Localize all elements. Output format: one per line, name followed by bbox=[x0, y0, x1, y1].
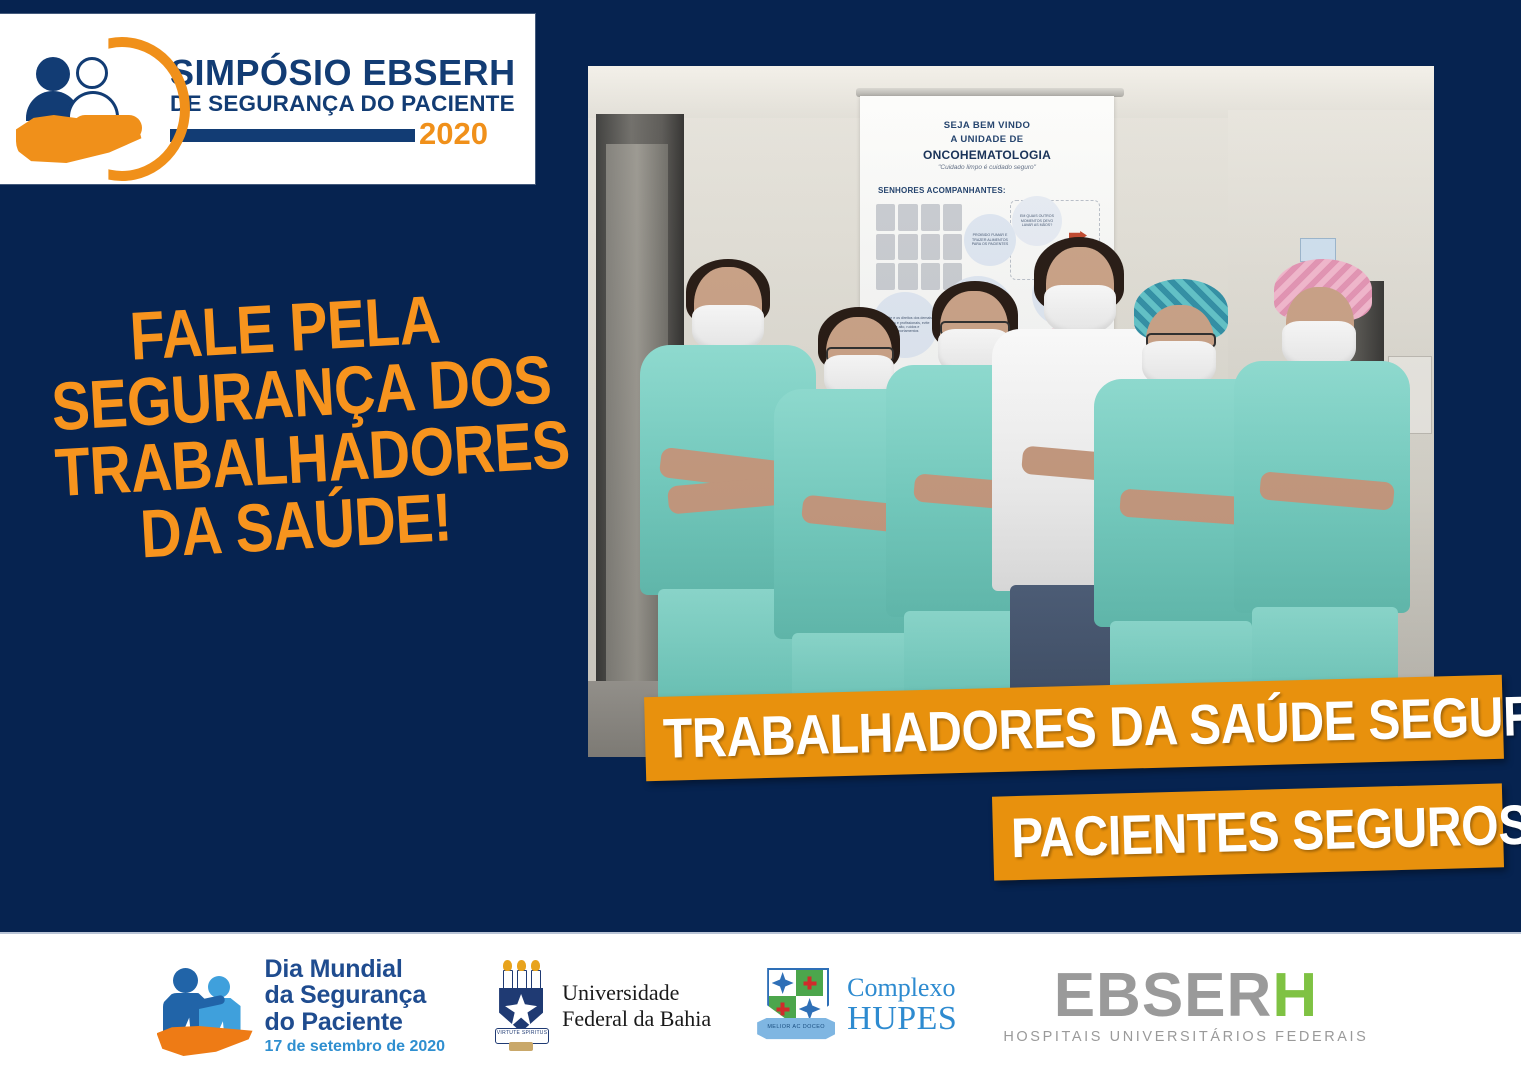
wpsd-icon bbox=[153, 960, 253, 1052]
simposio-logo-text: SIMPÓSIO EBSERH DE SEGURANÇA DO PACIENTE… bbox=[170, 51, 516, 148]
ebserh-word-green: H bbox=[1272, 961, 1318, 1030]
simposio-logo-card: SIMPÓSIO EBSERH DE SEGURANÇA DO PACIENTE… bbox=[0, 14, 535, 184]
wpsd-line-2: da Segurança bbox=[265, 982, 446, 1009]
main-headline: FALE PELA SEGURANÇA DOS TRABALHADORES DA… bbox=[1, 280, 580, 575]
hupes-icon: MELIOR AC DOCEO bbox=[757, 960, 835, 1052]
simposio-title: SIMPÓSIO EBSERH bbox=[170, 55, 516, 91]
simposio-year: 2020 bbox=[419, 121, 488, 148]
person-head-filled-icon bbox=[36, 57, 70, 91]
ufba-icon: VIRTUTE SPIRITUS bbox=[491, 958, 551, 1054]
divider-bar bbox=[170, 129, 415, 142]
wpsd-hand-icon bbox=[157, 1026, 253, 1056]
wpsd-text: Dia Mundial da Segurança do Paciente 17 … bbox=[265, 956, 446, 1057]
simposio-subtitle: DE SEGURANÇA DO PACIENTE bbox=[170, 91, 516, 117]
ebserh-wordmark: EBSERH bbox=[1054, 967, 1318, 1025]
footer-divider bbox=[0, 932, 1521, 934]
footer-logos: Dia Mundial da Segurança do Paciente 17 … bbox=[0, 932, 1521, 1080]
wpsd-head-dark-icon bbox=[173, 968, 198, 993]
ufba-logo: VIRTUTE SPIRITUS Universidade Federal da… bbox=[491, 958, 711, 1054]
ufba-text: Universidade Federal da Bahia bbox=[562, 980, 711, 1032]
poster-tagline: "Cuidado limpo é cuidado seguro" bbox=[860, 164, 1114, 171]
banner-line-1-text: TRABALHADORES DA SAÚDE SEGUROS, bbox=[662, 686, 1521, 767]
ufba-line-1: Universidade bbox=[562, 980, 711, 1006]
hupes-ribbon: MELIOR AC DOCEO bbox=[757, 1018, 835, 1040]
wpsd-line-3: do Paciente bbox=[265, 1009, 446, 1036]
ebserh-word-grey: EBSER bbox=[1054, 961, 1273, 1030]
wpsd-line-1: Dia Mundial bbox=[265, 956, 446, 983]
hupes-line-2: HUPES bbox=[847, 1002, 957, 1037]
hand-fingers-icon bbox=[72, 115, 142, 141]
banner-line-2: PACIENTES SEGUROS bbox=[992, 783, 1504, 880]
ebserh-logo: EBSERH HOSPITAIS UNIVERSITÁRIOS FEDERAIS bbox=[1003, 967, 1368, 1044]
ufba-base-icon bbox=[509, 1042, 533, 1051]
wpsd-date: 17 de setembro de 2020 bbox=[265, 1038, 446, 1056]
hupes-logo: MELIOR AC DOCEO Complexo HUPES bbox=[757, 960, 957, 1052]
poster-canvas: SIMPÓSIO EBSERH DE SEGURANÇA DO PACIENTE… bbox=[0, 0, 1521, 1080]
hupes-text: Complexo HUPES bbox=[847, 975, 957, 1036]
person-head-outline-icon bbox=[76, 57, 108, 89]
banner-line-2-text: PACIENTES SEGUROS bbox=[1010, 797, 1521, 867]
poster-line-3: ONCOHEMATOLOGIA bbox=[860, 148, 1114, 162]
simposio-logo-icon bbox=[14, 29, 164, 169]
poster-line-1: SEJA BEM VINDO bbox=[860, 120, 1114, 131]
wpsd-logo: Dia Mundial da Segurança do Paciente 17 … bbox=[153, 956, 446, 1057]
team-photo: SEJA BEM VINDO A UNIDADE DE ONCOHEMATOLO… bbox=[588, 66, 1434, 757]
poster-line-2: A UNIDADE DE bbox=[860, 134, 1114, 145]
ebserh-subtitle: HOSPITAIS UNIVERSITÁRIOS FEDERAIS bbox=[1003, 1029, 1368, 1045]
ufba-motto: VIRTUTE SPIRITUS bbox=[496, 1030, 548, 1036]
hupes-motto: MELIOR AC DOCEO bbox=[757, 1024, 835, 1030]
hupes-line-1: Complexo bbox=[847, 975, 957, 1002]
ufba-line-2: Federal da Bahia bbox=[562, 1006, 711, 1032]
poster-section-label: SENHORES ACOMPANHANTES: bbox=[878, 186, 1006, 195]
